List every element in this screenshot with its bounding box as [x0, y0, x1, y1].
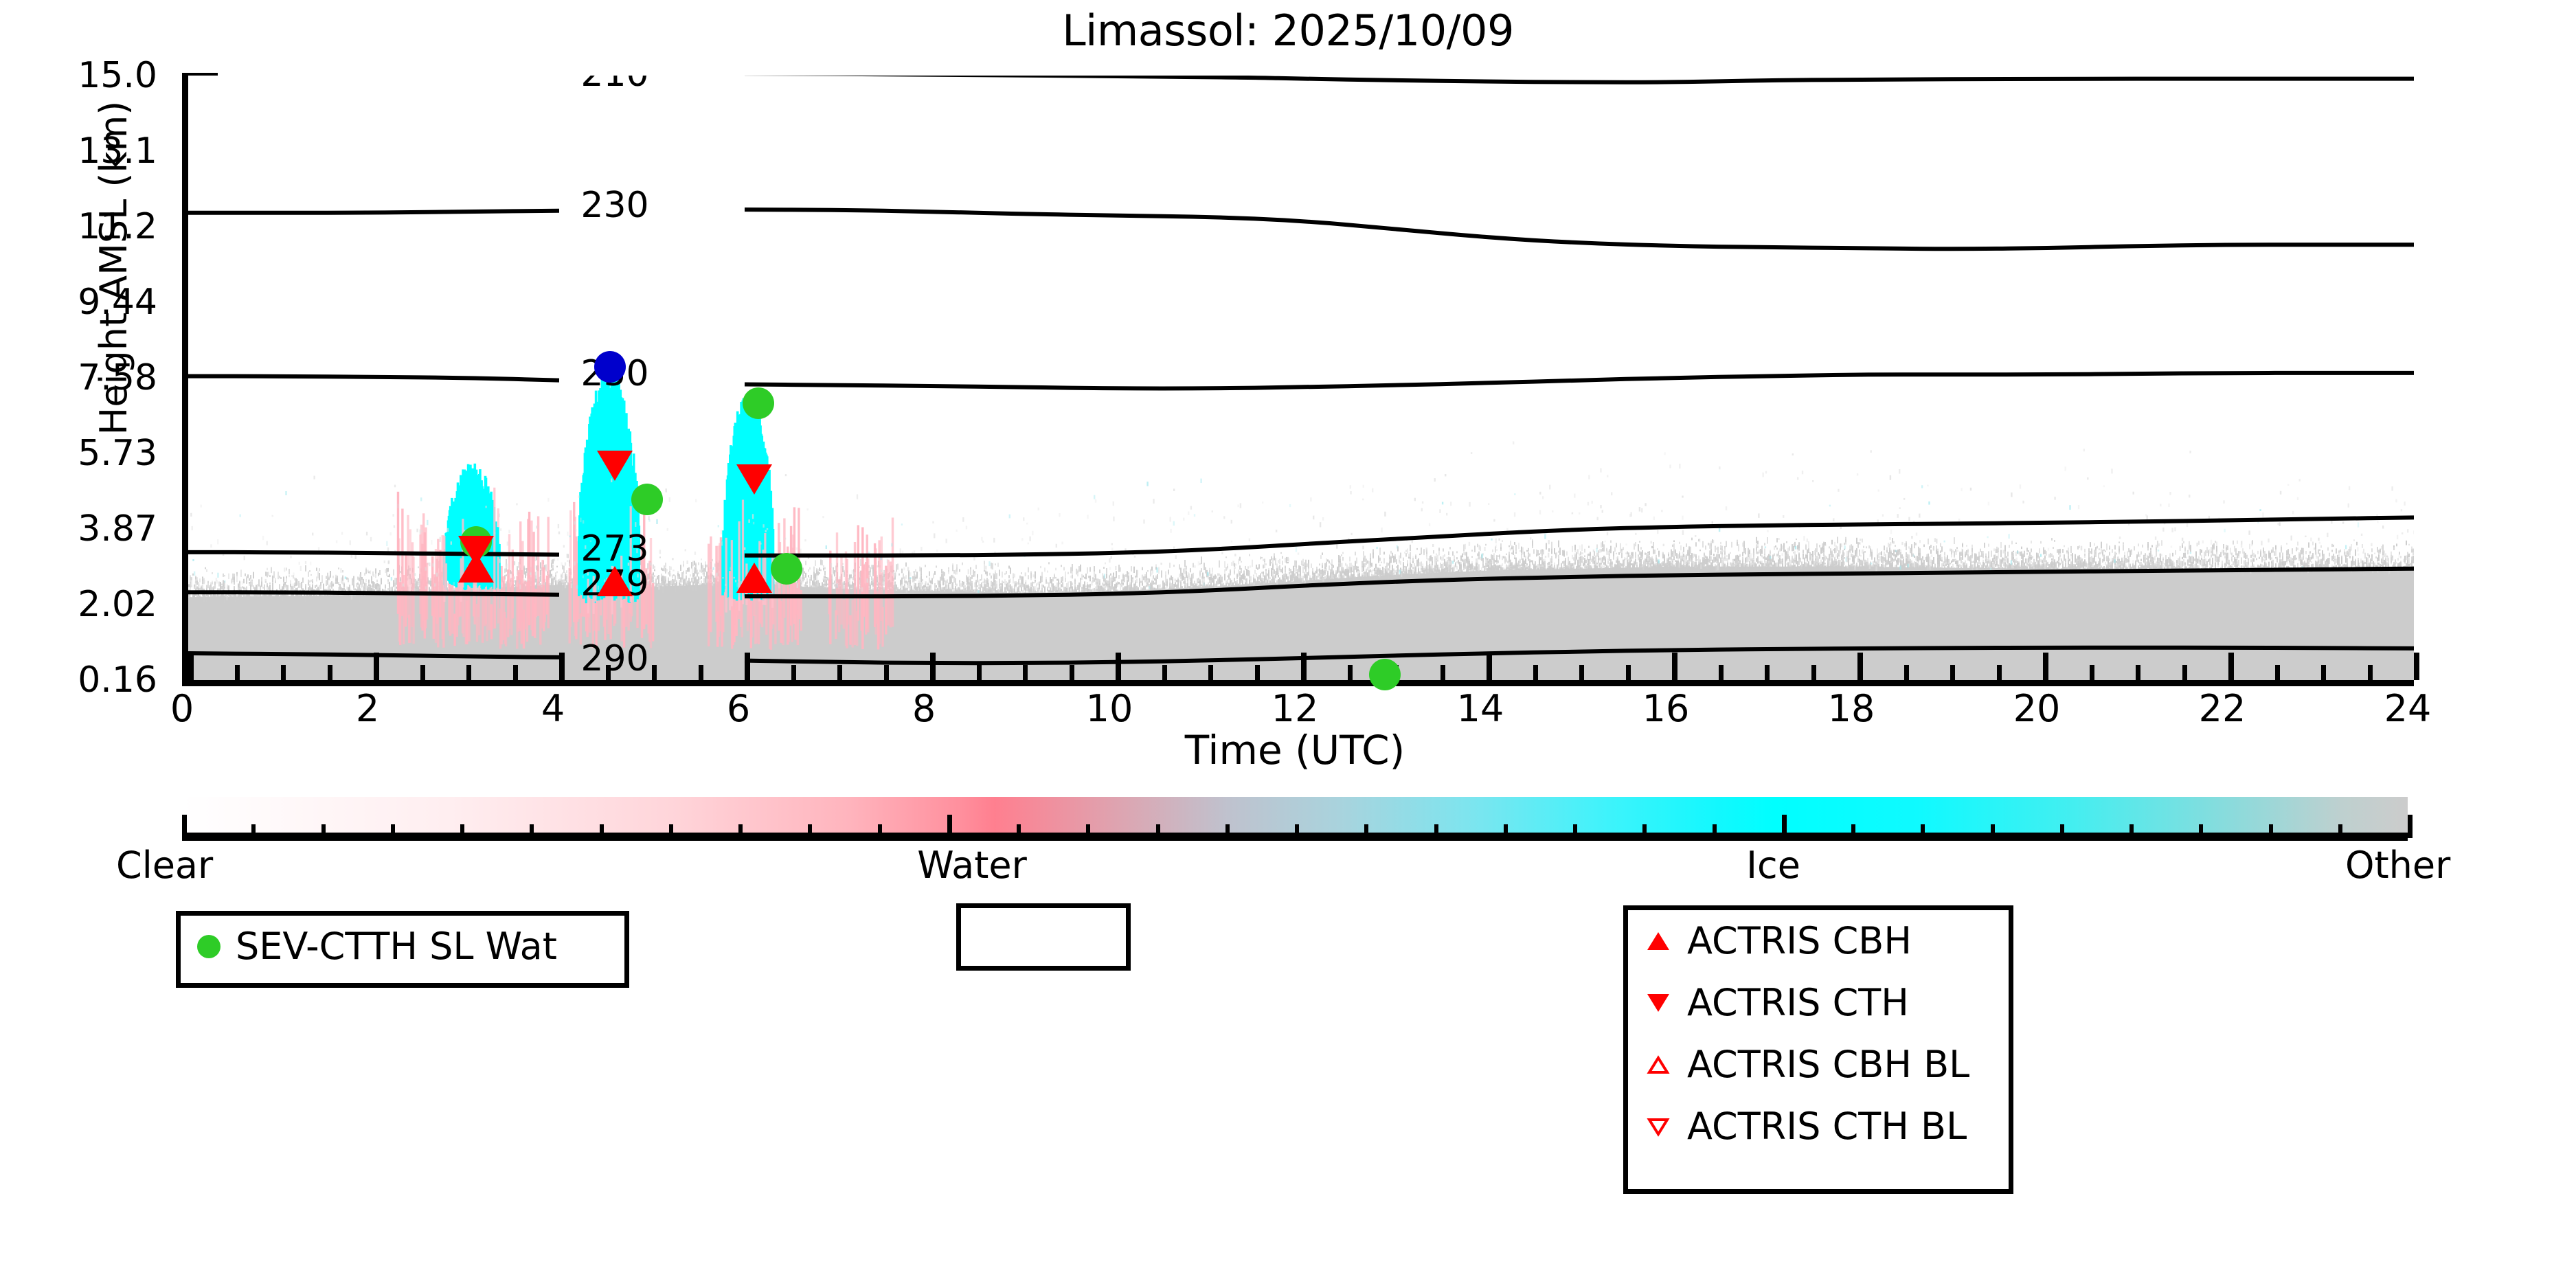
colorbar-tick-major	[1782, 815, 1787, 838]
colorbar-tick-major	[947, 815, 952, 838]
x-tick-major	[559, 653, 565, 680]
colorbar-tick-minor	[1156, 824, 1160, 838]
legend-item-label: ACTRIS CBH BL	[1672, 1046, 1969, 1083]
colorbar-tick-minor	[808, 824, 812, 838]
plot-clip: 210230250273279290	[188, 76, 2414, 680]
contour-line	[188, 376, 559, 381]
contour-label: 210	[580, 76, 648, 95]
x-tick-minor	[1626, 665, 1631, 680]
legend-actris[interactable]: ACTRIS CBH ACTRIS CTH ACTRIS CBH BL ACTR…	[1623, 905, 2013, 1194]
colorbar-label-other: Other	[2345, 844, 2450, 887]
x-tick-minor	[837, 665, 842, 680]
colorbar-tick-minor	[1225, 824, 1230, 838]
legend-item[interactable]: ACTRIS CBH	[1628, 910, 2009, 972]
contour-line	[745, 210, 2414, 249]
triangle-up-open-icon	[1645, 1052, 1672, 1077]
x-tick-minor	[884, 665, 889, 680]
colorbar-label-clear: Clear	[116, 844, 213, 887]
contour-line	[745, 648, 2414, 664]
legend-item-label: ACTRIS CBH	[1672, 923, 1912, 960]
colorbar-label-water: Water	[917, 844, 1027, 887]
x-tick-major	[188, 653, 194, 680]
x-tick-minor	[1070, 665, 1074, 680]
colorbar-tick-minor	[1921, 824, 1925, 838]
y-tick-label: 7.58	[0, 357, 157, 398]
x-tick-label: 6	[670, 687, 807, 730]
colorbar-tick-minor	[2269, 824, 2273, 838]
contour-line	[188, 552, 559, 555]
legend-item[interactable]: ACTRIS CTH BL	[1628, 1096, 2009, 1157]
x-tick-label: 14	[1412, 687, 1549, 730]
sev-ctth-sl-wat-marker	[631, 484, 663, 515]
contour-line	[745, 569, 2414, 596]
x-tick-minor	[1440, 665, 1445, 680]
x-tick-major	[2228, 653, 2234, 680]
x-tick-major	[1301, 653, 1307, 680]
x-tick-label: 0	[113, 687, 251, 730]
x-tick-minor	[1765, 665, 1770, 680]
sev-ctth-sl-wat-marker	[1369, 659, 1401, 690]
x-tick-major	[2414, 653, 2419, 680]
x-tick-minor	[652, 665, 657, 680]
colorbar-tick-major	[2408, 815, 2413, 838]
colorbar-tick-minor	[878, 824, 882, 838]
colorbar-tick-minor	[1434, 824, 1438, 838]
legend-item[interactable]: ACTRIS CTH	[1628, 972, 2009, 1034]
colorbar-tick-minor	[600, 824, 604, 838]
actris-cth-marker	[735, 462, 773, 499]
x-tick-minor	[1255, 665, 1260, 680]
colorbar-tick-minor	[1642, 824, 1647, 838]
x-tick-minor	[2275, 665, 2280, 680]
actris-cbh-marker	[596, 564, 634, 601]
y-tick-label: 2.02	[0, 584, 157, 625]
actris-cth-marker	[457, 534, 495, 571]
colorbar-tick-minor	[738, 824, 743, 838]
x-tick-major	[745, 653, 750, 680]
x-tick-label: 4	[484, 687, 622, 730]
x-tick-minor	[1719, 665, 1724, 680]
colorbar-tick-minor	[251, 824, 256, 838]
sev-ctth-sl-wat-marker	[771, 553, 802, 585]
x-tick-minor	[1811, 665, 1816, 680]
actris-cth-marker	[596, 449, 634, 486]
contour-line	[745, 76, 2414, 82]
colorbar[interactable]	[182, 797, 2408, 838]
colorbar-tick-minor	[2199, 824, 2203, 838]
x-tick-minor	[606, 665, 611, 680]
y-tick-label: 3.87	[0, 508, 157, 550]
x-tick-label: 12	[1226, 687, 1364, 730]
x-tick-label: 8	[855, 687, 993, 730]
contour-label: 290	[580, 638, 648, 679]
colorbar-tick-minor	[1713, 824, 1717, 838]
y-tick-label: 11.2	[0, 206, 157, 247]
x-tick-minor	[2136, 665, 2140, 680]
contour-line	[745, 373, 2414, 389]
x-tick-label: 10	[1041, 687, 1178, 730]
x-axis-label: Time (UTC)	[182, 727, 2408, 773]
colorbar-tick-minor	[1295, 824, 1299, 838]
chart-title: Limassol: 2025/10/09	[0, 5, 2576, 56]
x-tick-label: 24	[2339, 687, 2476, 730]
x-tick-minor	[2182, 665, 2187, 680]
sev-ctth-sl-wat-marker	[743, 387, 774, 419]
x-tick-minor	[1579, 665, 1584, 680]
x-tick-minor	[2368, 665, 2373, 680]
colorbar-tick-minor	[2060, 824, 2064, 838]
legend-item[interactable]: ACTRIS CBH BL	[1628, 1034, 2009, 1096]
x-tick-label: 2	[299, 687, 436, 730]
triangle-down-filled-icon	[1645, 991, 1672, 1015]
x-tick-minor	[1162, 665, 1167, 680]
legend-empty-box[interactable]	[956, 903, 1131, 971]
colorbar-tick-minor	[530, 824, 534, 838]
circle-marker-icon	[197, 935, 221, 958]
colorbar-tick-major	[182, 815, 187, 838]
x-tick-major	[1857, 653, 1863, 680]
y-tick-label: 13.1	[0, 131, 157, 172]
colorbar-tick-minor	[460, 824, 464, 838]
x-tick-minor	[235, 665, 240, 680]
colorbar-tick-minor	[2129, 824, 2134, 838]
x-tick-minor	[699, 665, 703, 680]
contour-line	[188, 211, 559, 213]
x-tick-major	[930, 653, 936, 680]
colorbar-tick-minor	[669, 824, 673, 838]
x-tick-minor	[1950, 665, 1955, 680]
colorbar-tick-minor	[1086, 824, 1090, 838]
x-tick-minor	[420, 665, 425, 680]
x-tick-label: 20	[1968, 687, 2105, 730]
colorbar-tick-minor	[391, 824, 395, 838]
colorbar-tick-minor	[321, 824, 326, 838]
x-tick-major	[374, 653, 379, 680]
colorbar-tick-minor	[1851, 824, 1855, 838]
actris-cbh-marker	[735, 561, 773, 598]
colorbar-tick-minor	[2338, 824, 2342, 838]
sev-ctth-other-marker	[594, 351, 626, 383]
colorbar-tick-minor	[1991, 824, 1995, 838]
contour-label: 230	[580, 185, 648, 226]
x-tick-minor	[1997, 665, 2002, 680]
x-tick-major	[1116, 653, 1121, 680]
legend-item[interactable]: SEV-CTTH SL Wat	[181, 916, 624, 978]
x-tick-minor	[977, 665, 982, 680]
colorbar-tick-minor	[1017, 824, 1021, 838]
x-tick-minor	[1208, 665, 1213, 680]
y-tick-label: 5.73	[0, 433, 157, 474]
triangle-up-filled-icon	[1645, 929, 1672, 953]
x-tick-minor	[513, 665, 518, 680]
temperature-contours: 210230250273279290	[188, 76, 2414, 680]
x-tick-label: 16	[1597, 687, 1735, 730]
x-tick-major	[1487, 653, 1492, 680]
y-tick-label: 15.0	[0, 55, 157, 96]
x-tick-minor	[466, 665, 471, 680]
x-tick-minor	[791, 665, 796, 680]
colorbar-label-ice: Ice	[1746, 844, 1800, 887]
x-tick-minor	[1348, 665, 1353, 680]
x-tick-minor	[281, 665, 286, 680]
x-tick-minor	[328, 665, 332, 680]
colorbar-tick-minor	[1364, 824, 1368, 838]
triangle-down-open-icon	[1645, 1114, 1672, 1139]
x-tick-minor	[1904, 665, 1909, 680]
colorbar-tick-minor	[1504, 824, 1508, 838]
legend-item-label: SEV-CTTH SL Wat	[221, 928, 557, 965]
colorbar-tick-minor	[1573, 824, 1577, 838]
y-tick-label: 9.44	[0, 282, 157, 323]
legend-item-label: ACTRIS CTH	[1672, 984, 1909, 1021]
x-tick-major	[1672, 653, 1677, 680]
x-tick-minor	[1023, 665, 1028, 680]
plot-area[interactable]: 210230250273279290	[182, 76, 2414, 686]
legend-item-label: ACTRIS CTH BL	[1672, 1108, 1967, 1145]
x-tick-major	[2043, 653, 2048, 680]
contour-line	[188, 592, 559, 595]
x-tick-minor	[2321, 665, 2326, 680]
x-tick-minor	[2090, 665, 2094, 680]
x-tick-label: 22	[2154, 687, 2291, 730]
legend-sev-ctth[interactable]: SEV-CTTH SL Wat	[176, 911, 629, 988]
contour-line	[745, 517, 2414, 555]
x-tick-minor	[1533, 665, 1538, 680]
x-tick-label: 18	[1783, 687, 1920, 730]
